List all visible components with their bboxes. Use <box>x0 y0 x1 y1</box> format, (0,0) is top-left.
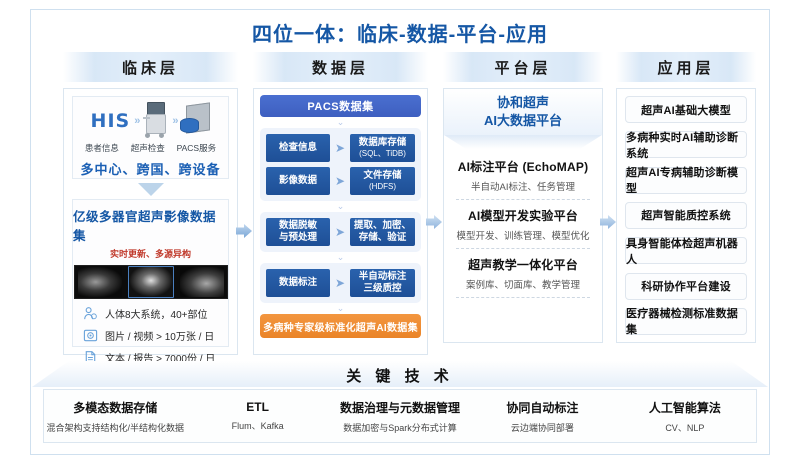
platform-item-echomap[interactable]: AI标注平台 (EchoMAP) 半自动AI标注、任务管理 <box>444 151 602 199</box>
arrow-right-icon: ➤ <box>334 142 346 154</box>
block-db-storage-title: 数据库存储 <box>359 137 407 149</box>
block-desensitization-l2: 与预处理 <box>279 232 317 244</box>
platform-item-title: 超声教学一体化平台 <box>448 256 598 273</box>
key-tech-item-title: 人工智能算法 <box>614 399 756 416</box>
key-tech-item-governance: 数据治理与元数据管理 数据加密与Spark分布式计算 <box>329 399 471 434</box>
image-icon <box>83 328 98 343</box>
app-item-device-standard-dataset[interactable]: 医疗器械检测标准数据集 <box>625 308 747 335</box>
dataset-stat-text: 图片 / 视频 > 10万张 / 日 <box>105 328 214 343</box>
block-desensitization: 数据脱敏 与预处理 <box>266 218 330 246</box>
data-row: 数据标注 ➤ 半自动标注 三级质控 <box>266 269 415 297</box>
block-db-storage-sub: (SQL、TiDB) <box>359 149 406 159</box>
platform-item-title: AI标注平台 (EchoMAP) <box>448 158 598 175</box>
data-pipeline: PACS数据集 ⌄ 检查信息 ➤ 数据库存储 (SQL、TiDB) 影像数据 ➤… <box>260 95 421 348</box>
column-header-application: 应用层 <box>616 52 756 82</box>
app-item-specialized-diagnosis[interactable]: 超声AI专病辅助诊断模型 <box>625 167 747 194</box>
block-semiauto-annotation-l1: 半自动标注 <box>359 271 407 283</box>
key-tech-item-sub: 混合架构支持结构化/半结构化数据 <box>44 421 186 434</box>
block-image-data: 影像数据 <box>266 167 330 195</box>
caption-patient-info: 患者信息 <box>85 142 119 154</box>
divider <box>456 297 590 298</box>
key-tech-title: 关 键 技 术 <box>31 365 769 386</box>
clinical-source-captions: 患者信息 超声检查 PACS服务 <box>73 142 228 154</box>
block-file-storage-sub: (HDFS) <box>369 182 396 192</box>
data-row: 数据脱敏 与预处理 ➤ 提取、加密、 存储、验证 <box>266 218 415 246</box>
key-tech-item-sub: CV、NLP <box>614 421 756 434</box>
column-header-platform: 平台层 <box>443 52 603 82</box>
platform-item-sub: 半自动AI标注、任务管理 <box>448 179 598 193</box>
app-item-embodied-robot[interactable]: 具身智能体检超声机器人 <box>625 237 747 264</box>
clinical-dataset-box: 亿级多器官超声影像数据集 实时更新、多源异构 人体8大系统，40+部位 图片 /… <box>72 199 229 347</box>
chevron-down-icon: ⌄ <box>260 201 421 212</box>
app-item-research-platform[interactable]: 科研协作平台建设 <box>625 273 747 300</box>
app-item-multidisease-realtime[interactable]: 多病种实时AI辅助诊断系统 <box>625 131 747 158</box>
arrow-right-icon-data-to-platform <box>425 213 443 231</box>
caption-pacs-service: PACS服务 <box>177 142 217 154</box>
dataset-stat-row: 图片 / 视频 > 10万张 / 日 <box>83 324 218 346</box>
dataset-title: 亿级多器官超声影像数据集 <box>73 206 228 244</box>
platform-banner: 协和超声 AI大数据平台 <box>444 89 602 135</box>
column-body-application: 超声AI基础大模型 多病种实时AI辅助诊断系统 超声AI专病辅助诊断模型 超声智… <box>616 88 756 343</box>
clinical-source-box: HIS » » 患者信息 超声检查 PACS服务 多中心、跨国、跨设备 <box>72 96 229 179</box>
platform-item-sub: 案例库、切面库、教学管理 <box>448 277 598 291</box>
person-icon <box>83 306 98 321</box>
platform-item-model-dev[interactable]: AI模型开发实验平台 模型开发、训练管理、模型优化 <box>444 200 602 248</box>
application-list: 超声AI基础大模型 多病种实时AI辅助诊断系统 超声AI专病辅助诊断模型 超声智… <box>625 96 747 335</box>
chevron-down-icon: ⌄ <box>260 117 421 128</box>
data-group-storage: 检查信息 ➤ 数据库存储 (SQL、TiDB) 影像数据 ➤ 文件存储 (HDF… <box>260 128 421 201</box>
app-item-foundation-model[interactable]: 超声AI基础大模型 <box>625 96 747 123</box>
block-file-storage: 文件存储 (HDFS) <box>350 167 415 195</box>
key-tech-item-title: 多模态数据存储 <box>44 399 186 416</box>
chevron-right-icon: » <box>134 115 138 127</box>
caption-ultrasound-exam: 超声检查 <box>131 142 165 154</box>
column-body-data: PACS数据集 ⌄ 检查信息 ➤ 数据库存储 (SQL、TiDB) 影像数据 ➤… <box>253 88 428 355</box>
block-semiauto-annotation: 半自动标注 三级质控 <box>350 269 415 297</box>
key-tech-item-title: 协同自动标注 <box>471 399 613 416</box>
platform-item-sub: 模型开发、训练管理、模型优化 <box>448 228 598 242</box>
clinical-source-icons: HIS » » <box>91 99 211 142</box>
dataset-stat-row: 人体8大系统，40+部位 <box>83 302 218 324</box>
dataset-stat-text: 人体8大系统，40+部位 <box>105 306 208 321</box>
key-tech-item-sub: 云边端协同部署 <box>471 421 613 434</box>
arrow-right-icon: ➤ <box>334 175 346 187</box>
arrow-right-icon: ➤ <box>334 226 346 238</box>
data-row: 检查信息 ➤ 数据库存储 (SQL、TiDB) <box>266 134 415 162</box>
block-data-annotation: 数据标注 <box>266 269 330 297</box>
column-body-clinical: HIS » » 患者信息 超声检查 PACS服务 多中心、跨国、跨设备 亿级多器… <box>63 88 238 355</box>
platform-banner-line1: 协和超声 <box>497 94 549 112</box>
page-title: 四位一体：临床-数据-平台-应用 <box>31 18 769 47</box>
key-tech-box: 多模态数据存储 混合架构支持结构化/半结构化数据 ETL Flum、Kafka … <box>43 389 757 443</box>
down-arrow-icon <box>138 183 164 196</box>
key-tech-item-sub: 数据加密与Spark分布式计算 <box>329 421 471 434</box>
server-database-icon <box>180 104 210 138</box>
chevron-right-icon-2: » <box>172 115 176 127</box>
data-group-annotation: 数据标注 ➤ 半自动标注 三级质控 <box>260 263 421 303</box>
app-item-quality-control[interactable]: 超声智能质控系统 <box>625 202 747 229</box>
column-header-data: 数据层 <box>253 52 428 82</box>
platform-item-title: AI模型开发实验平台 <box>448 207 598 224</box>
column-body-platform: 协和超声 AI大数据平台 AI标注平台 (EchoMAP) 半自动AI标注、任务… <box>443 88 603 343</box>
column-header-clinical: 临床层 <box>63 52 238 82</box>
ultrasound-thumbnail-strip <box>74 265 228 299</box>
key-tech-item-sub: Flum、Kafka <box>186 419 328 432</box>
data-output-bar: 多病种专家级标准化超声AI数据集 <box>260 314 421 338</box>
block-semiauto-annotation-l2: 三级质控 <box>363 283 401 295</box>
arrow-right-icon: ➤ <box>334 277 346 289</box>
ultrasound-machine-icon <box>142 102 168 140</box>
data-group-preprocess: 数据脱敏 与预处理 ➤ 提取、加密、 存储、验证 <box>260 212 421 252</box>
pacs-dataset-bar: PACS数据集 <box>260 95 421 117</box>
block-extract-encrypt: 提取、加密、 存储、验证 <box>350 218 415 246</box>
clinical-source-subtitle: 多中心、跨国、跨设备 <box>80 159 220 178</box>
arrow-right-icon-platform-to-application <box>599 213 617 231</box>
data-row: 影像数据 ➤ 文件存储 (HDFS) <box>266 167 415 195</box>
diagram-canvas: 四位一体：临床-数据-平台-应用 临床层 数据层 平台层 应用层 HIS » »… <box>30 9 770 455</box>
block-desensitization-l1: 数据脱敏 <box>279 220 317 232</box>
block-extract-encrypt-l1: 提取、加密、 <box>354 220 411 232</box>
chevron-down-icon: ⌄ <box>260 303 421 314</box>
key-tech-item-title: 数据治理与元数据管理 <box>329 399 471 416</box>
platform-banner-line2: AI大数据平台 <box>484 112 562 130</box>
key-tech-item-storage: 多模态数据存储 混合架构支持结构化/半结构化数据 <box>44 399 186 434</box>
dataset-subtitle: 实时更新、多源异构 <box>110 247 191 260</box>
key-tech-item-etl: ETL Flum、Kafka <box>186 400 328 432</box>
his-logo: HIS <box>91 110 131 132</box>
dataset-stats: 人体8大系统，40+部位 图片 / 视频 > 10万张 / 日 文本 / 报告 … <box>73 299 228 368</box>
key-tech-item-title: ETL <box>186 400 328 414</box>
key-tech-item-collab-annotation: 协同自动标注 云边端协同部署 <box>471 399 613 434</box>
arrow-right-icon-clinical-to-data <box>235 222 253 240</box>
block-db-storage: 数据库存储 (SQL、TiDB) <box>350 134 415 162</box>
block-exam-info: 检查信息 <box>266 134 330 162</box>
platform-item-teaching[interactable]: 超声教学一体化平台 案例库、切面库、教学管理 <box>444 249 602 297</box>
block-file-storage-title: 文件存储 <box>363 170 401 182</box>
chevron-down-icon: ⌄ <box>260 252 421 263</box>
key-tech-item-ai-algorithms: 人工智能算法 CV、NLP <box>614 399 756 434</box>
block-extract-encrypt-l2: 存储、验证 <box>359 232 407 244</box>
